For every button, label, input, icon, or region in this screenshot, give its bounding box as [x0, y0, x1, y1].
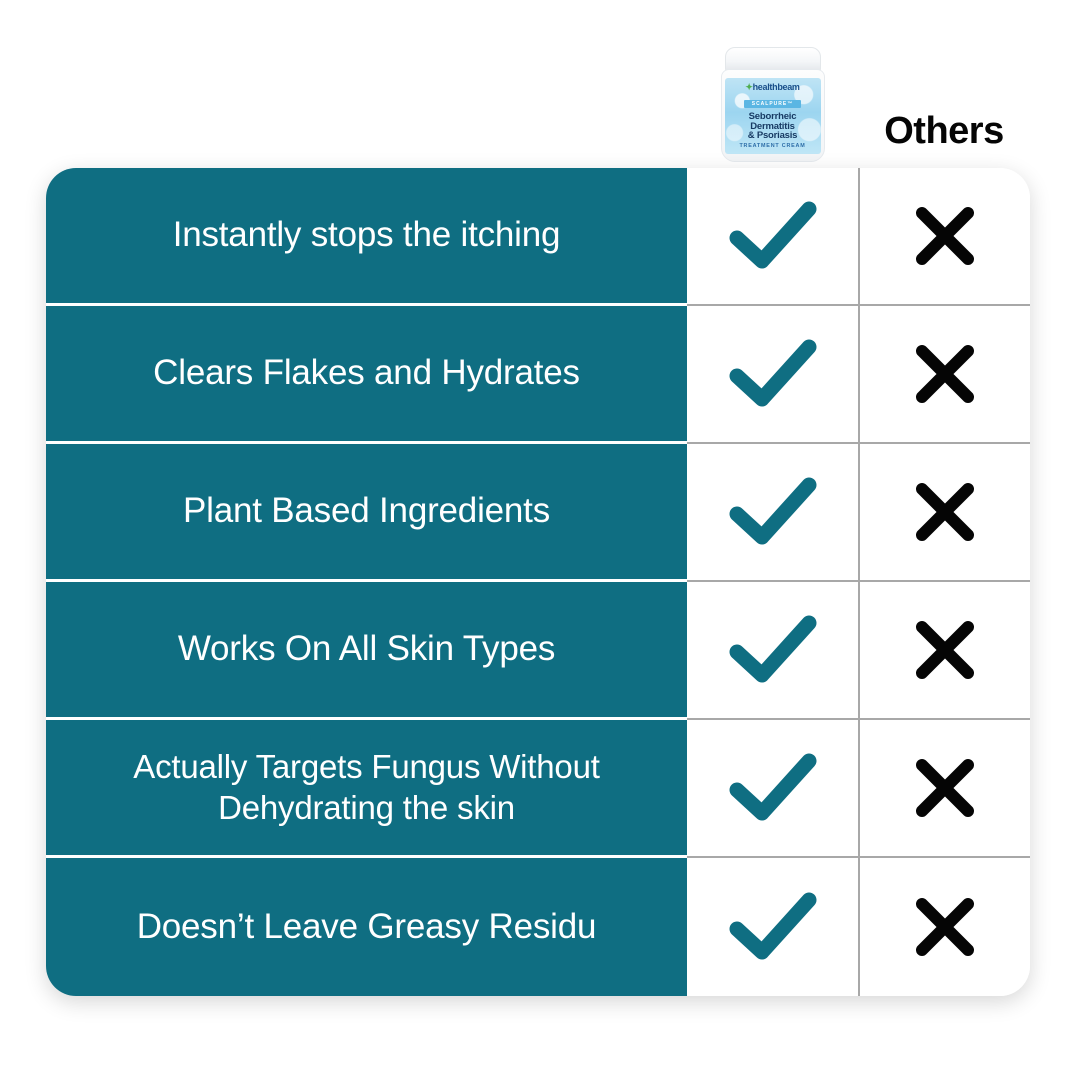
product-mark-cell	[687, 858, 858, 996]
check-icon	[727, 198, 819, 274]
others-column-header: Others	[858, 30, 1030, 162]
feature-cell: Plant Based Ingredients	[46, 444, 687, 582]
feature-cell: Doesn’t Leave Greasy Residu	[46, 858, 687, 996]
others-mark-cell	[858, 306, 1030, 444]
feature-label: Doesn’t Leave Greasy Residu	[137, 906, 597, 949]
others-mark-cell	[858, 582, 1030, 720]
table-row: Doesn’t Leave Greasy Residu	[46, 858, 1030, 996]
cross-icon	[912, 479, 978, 545]
others-label: Others	[884, 112, 1003, 150]
product-mark-cell	[687, 582, 858, 720]
cross-icon	[912, 894, 978, 960]
check-icon	[727, 336, 819, 412]
product-mark-cell	[687, 720, 858, 858]
feature-cell: Clears Flakes and Hydrates	[46, 306, 687, 444]
product-mark-cell	[687, 306, 858, 444]
comparison-infographic: ✦healthbeam SCALPURE™ Seborrheic Dermati…	[0, 0, 1080, 1080]
others-mark-cell	[858, 858, 1030, 996]
feature-label: Plant Based Ingredients	[183, 490, 550, 533]
others-mark-cell	[858, 168, 1030, 306]
feature-cell: Works On All Skin Types	[46, 582, 687, 720]
product-title-line-3: & Psoriasis	[725, 131, 821, 141]
cross-icon	[912, 617, 978, 683]
table-row: Actually Targets Fungus Without Dehydrat…	[46, 720, 1030, 858]
product-mark-cell	[687, 444, 858, 582]
table-row: Works On All Skin Types	[46, 582, 1030, 720]
feature-label: Instantly stops the itching	[173, 214, 561, 257]
product-column-header: ✦healthbeam SCALPURE™ Seborrheic Dermati…	[687, 30, 858, 162]
others-mark-cell	[858, 444, 1030, 582]
check-icon	[727, 474, 819, 550]
jar-label: ✦healthbeam SCALPURE™ Seborrheic Dermati…	[725, 78, 821, 154]
leaf-icon: ✦	[745, 82, 752, 92]
brand-text: healthbeam	[753, 82, 800, 92]
feature-cell: Actually Targets Fungus Without Dehydrat…	[46, 720, 687, 858]
table-row: Clears Flakes and Hydrates	[46, 306, 1030, 444]
cross-icon	[912, 341, 978, 407]
check-icon	[727, 750, 819, 826]
table-header: ✦healthbeam SCALPURE™ Seborrheic Dermati…	[46, 0, 1030, 168]
others-mark-cell	[858, 720, 1030, 858]
product-type: TREATMENT CREAM	[725, 143, 821, 149]
jar-body: ✦healthbeam SCALPURE™ Seborrheic Dermati…	[721, 69, 825, 162]
feature-label: Actually Targets Fungus Without Dehydrat…	[72, 747, 661, 828]
feature-label: Works On All Skin Types	[178, 628, 555, 671]
table-row: Instantly stops the itching	[46, 168, 1030, 306]
product-line-badge: SCALPURE™	[744, 100, 802, 108]
check-icon	[727, 612, 819, 688]
feature-label: Clears Flakes and Hydrates	[153, 352, 580, 395]
product-mark-cell	[687, 168, 858, 306]
product-title: Seborrheic Dermatitis & Psoriasis	[725, 112, 821, 141]
cross-icon	[912, 203, 978, 269]
brand-name: ✦healthbeam	[725, 83, 821, 92]
feature-cell: Instantly stops the itching	[46, 168, 687, 306]
product-jar-image: ✦healthbeam SCALPURE™ Seborrheic Dermati…	[719, 47, 827, 162]
cross-icon	[912, 755, 978, 821]
table-row: Plant Based Ingredients	[46, 444, 1030, 582]
check-icon	[727, 889, 819, 965]
comparison-table: Instantly stops the itching Clears Flake…	[46, 168, 1030, 996]
